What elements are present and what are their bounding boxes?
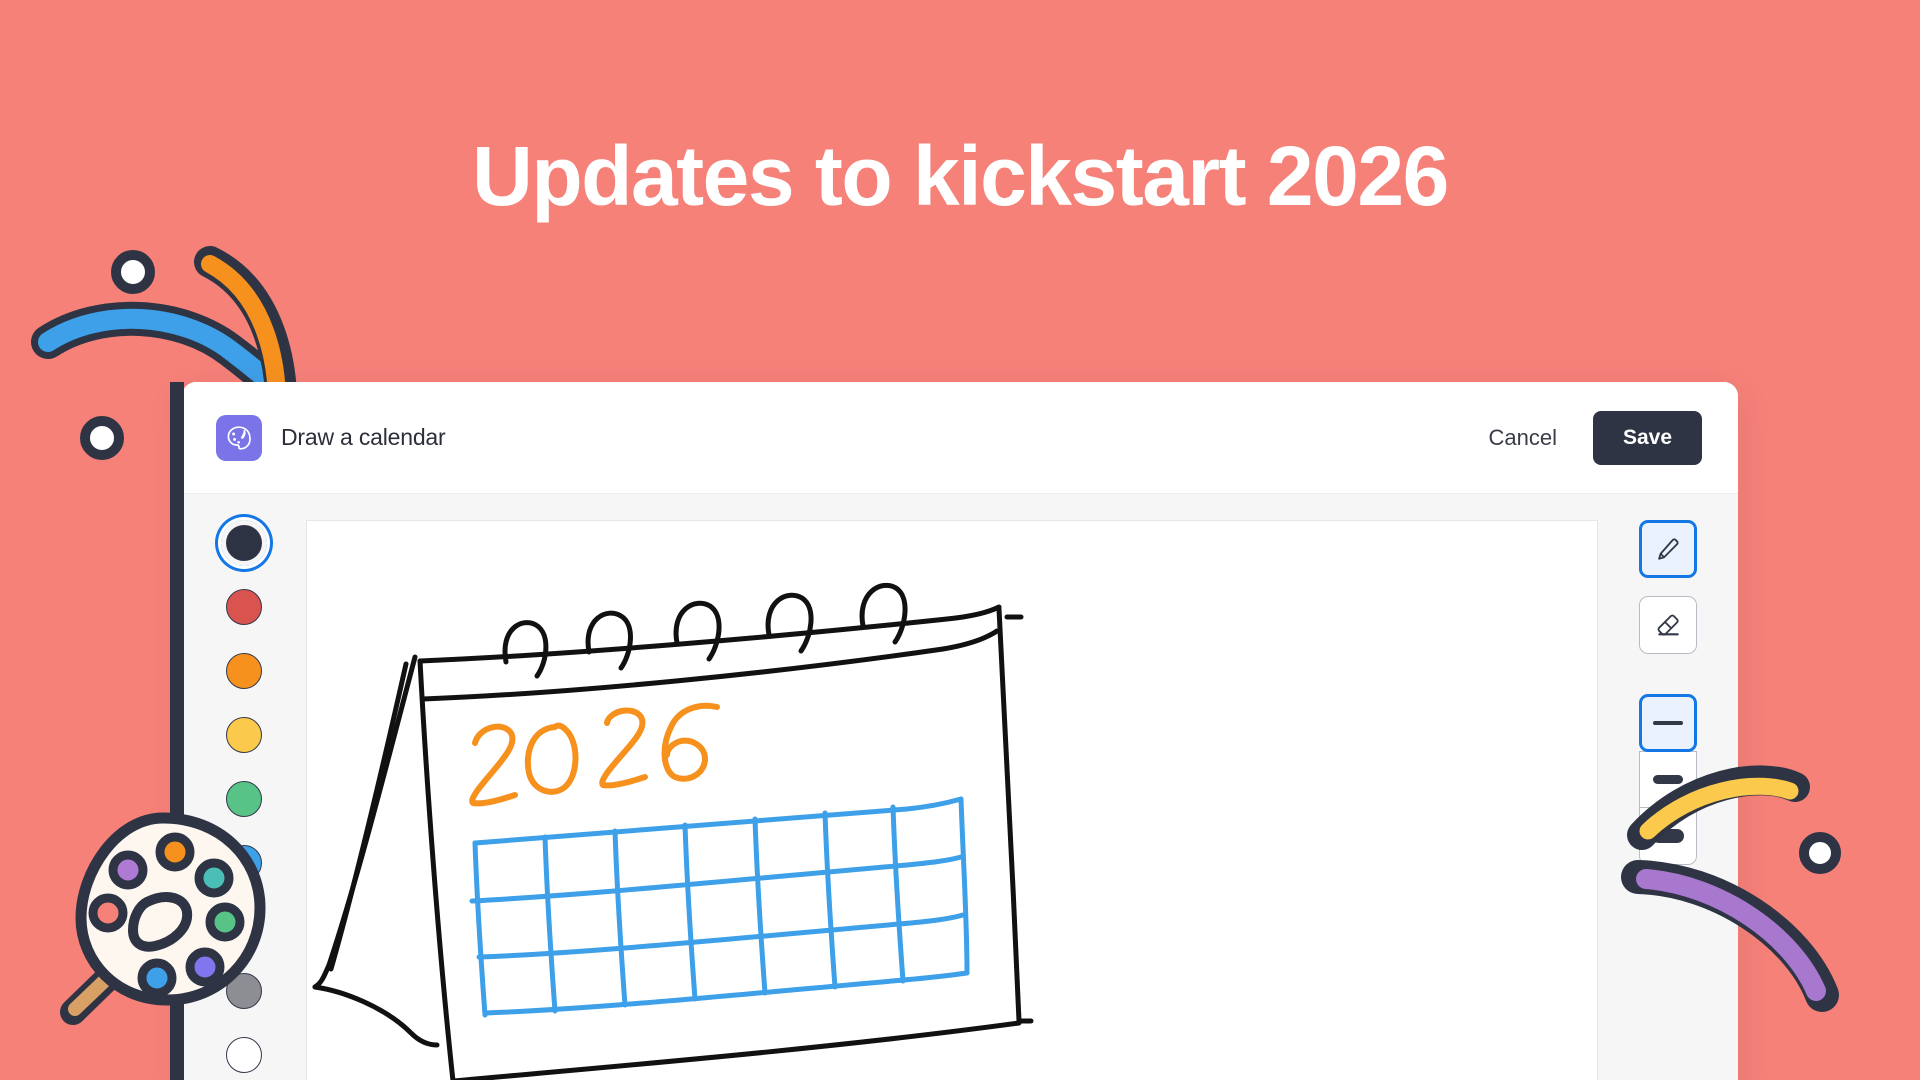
- pencil-tool-button[interactable]: [1639, 520, 1697, 578]
- paint-well: [142, 963, 172, 993]
- stroke-preview-thick: [1652, 829, 1684, 843]
- swatch-fill: [226, 781, 262, 817]
- swatch-fill: [226, 717, 262, 753]
- color-palette-rail: [182, 494, 306, 1078]
- swatch-fill: [226, 653, 262, 689]
- eraser-tool-button[interactable]: [1639, 596, 1697, 654]
- modal-header: Draw a calendar Cancel Save: [182, 382, 1738, 494]
- swatch-fill: [226, 845, 262, 881]
- drawing-modal: Draw a calendar Cancel Save: [182, 382, 1738, 1080]
- swatch-fill: [226, 525, 262, 561]
- tool-rail: [1598, 494, 1738, 865]
- stroke-preview-thin: [1653, 721, 1683, 725]
- calendar-grid: [472, 799, 967, 1015]
- swatch-fill: [226, 589, 262, 625]
- pencil-icon: [1655, 536, 1681, 562]
- modal-body: [182, 494, 1738, 1080]
- swatch-fill: [226, 1037, 262, 1073]
- paint-well: [113, 855, 143, 885]
- stroke-width-group: [1639, 694, 1697, 865]
- color-swatch-gray[interactable]: [221, 968, 267, 1014]
- paint-well: [93, 898, 123, 928]
- page-root: Updates to kickstart 2026 Draw a: [0, 0, 1920, 1080]
- paint-brush-handle: [73, 940, 147, 1012]
- color-swatch-white[interactable]: [221, 1032, 267, 1078]
- swatch-fill: [226, 909, 262, 945]
- stroke-preview-medium: [1653, 775, 1683, 784]
- year-text: [472, 706, 717, 804]
- color-swatch-orange[interactable]: [221, 648, 267, 694]
- stroke-width-thick-button[interactable]: [1639, 807, 1697, 865]
- color-swatch-green[interactable]: [221, 776, 267, 822]
- deco-circle: [116, 255, 150, 289]
- swatch-fill: [226, 973, 262, 1009]
- stroke-width-thin-button[interactable]: [1639, 694, 1697, 752]
- color-swatch-yellow[interactable]: [221, 712, 267, 758]
- page-title: Updates to kickstart 2026: [0, 132, 1920, 220]
- drawing-canvas[interactable]: [306, 520, 1598, 1080]
- stroke-width-medium-button[interactable]: [1639, 751, 1697, 809]
- modal-title: Draw a calendar: [281, 424, 445, 451]
- color-swatch-purple[interactable]: [221, 904, 267, 950]
- save-button[interactable]: Save: [1593, 411, 1702, 465]
- color-swatch-black[interactable]: [221, 520, 267, 566]
- eraser-icon: [1655, 612, 1681, 638]
- color-swatch-red[interactable]: [221, 584, 267, 630]
- color-swatch-blue[interactable]: [221, 840, 267, 886]
- deco-circle: [85, 421, 119, 455]
- hand-drawn-desk-calendar: [307, 521, 1453, 1080]
- deco-circle: [1804, 837, 1836, 869]
- cancel-button[interactable]: Cancel: [1474, 417, 1570, 459]
- palette-icon: [216, 415, 262, 461]
- palette-thumb-hole: [133, 897, 187, 947]
